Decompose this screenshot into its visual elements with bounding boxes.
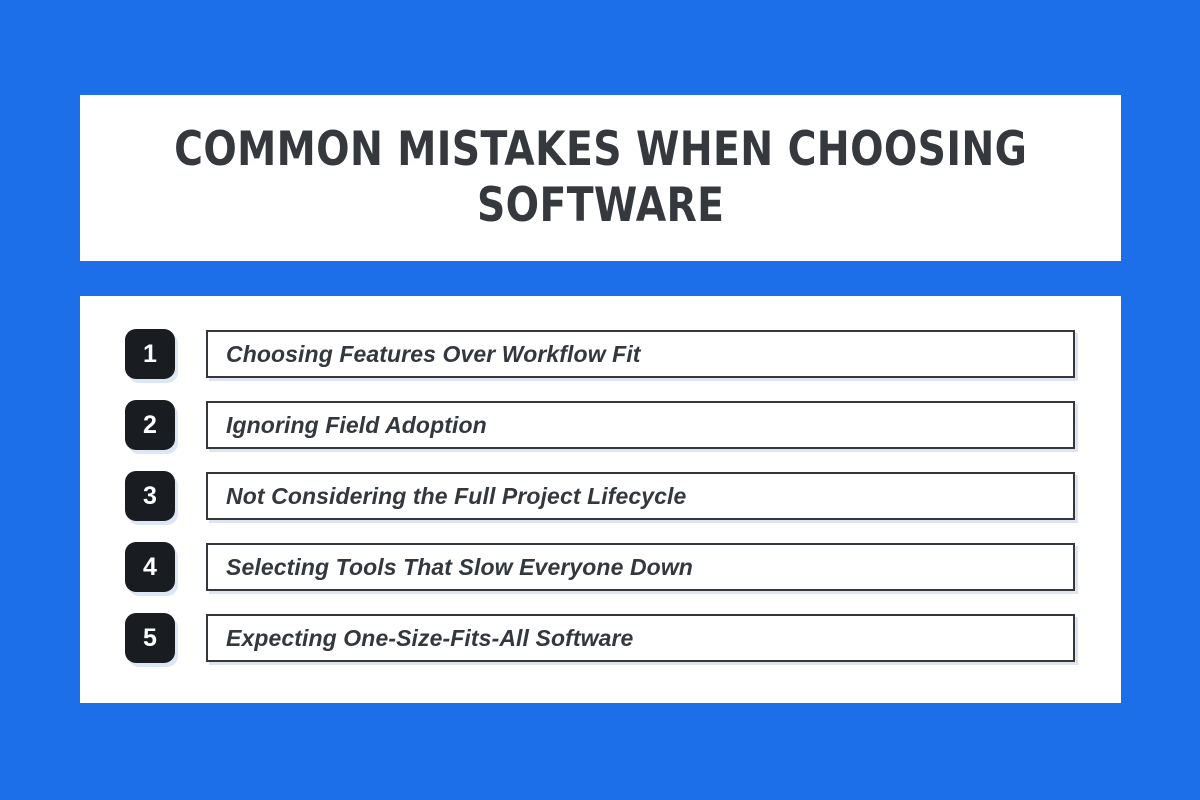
list-item-box: Not Considering the Full Project Lifecyc… — [206, 472, 1075, 520]
list-item-label: Ignoring Field Adoption — [226, 414, 487, 437]
list-item-number-badge: 1 — [125, 329, 175, 379]
list-item-number-badge: 2 — [125, 400, 175, 450]
list-item-label: Expecting One-Size-Fits-All Software — [226, 627, 633, 650]
list-item: 2 Ignoring Field Adoption — [125, 401, 1075, 449]
list-item-label: Selecting Tools That Slow Everyone Down — [226, 556, 693, 579]
list-item: 1 Choosing Features Over Workflow Fit — [125, 330, 1075, 378]
list-item: 5 Expecting One-Size-Fits-All Software — [125, 614, 1075, 662]
list-item: 4 Selecting Tools That Slow Everyone Dow… — [125, 543, 1075, 591]
list-item-label: Choosing Features Over Workflow Fit — [226, 343, 641, 366]
list-item-label: Not Considering the Full Project Lifecyc… — [226, 485, 686, 508]
list-item-box: Ignoring Field Adoption — [206, 401, 1075, 449]
list-item-box: Selecting Tools That Slow Everyone Down — [206, 543, 1075, 591]
list-item-number-badge: 4 — [125, 542, 175, 592]
mistakes-list: 1 Choosing Features Over Workflow Fit 2 … — [125, 330, 1075, 662]
mistakes-list-card: 1 Choosing Features Over Workflow Fit 2 … — [80, 296, 1121, 703]
list-item-box: Expecting One-Size-Fits-All Software — [206, 614, 1075, 662]
page-title: COMMON MISTAKES WHEN CHOOSING SOFTWARE — [174, 122, 1027, 235]
list-item-box: Choosing Features Over Workflow Fit — [206, 330, 1075, 378]
title-card: COMMON MISTAKES WHEN CHOOSING SOFTWARE — [80, 95, 1121, 261]
list-item-number-badge: 3 — [125, 471, 175, 521]
list-item-number-badge: 5 — [125, 613, 175, 663]
infographic-poster: COMMON MISTAKES WHEN CHOOSING SOFTWARE 1… — [0, 0, 1200, 800]
list-item: 3 Not Considering the Full Project Lifec… — [125, 472, 1075, 520]
